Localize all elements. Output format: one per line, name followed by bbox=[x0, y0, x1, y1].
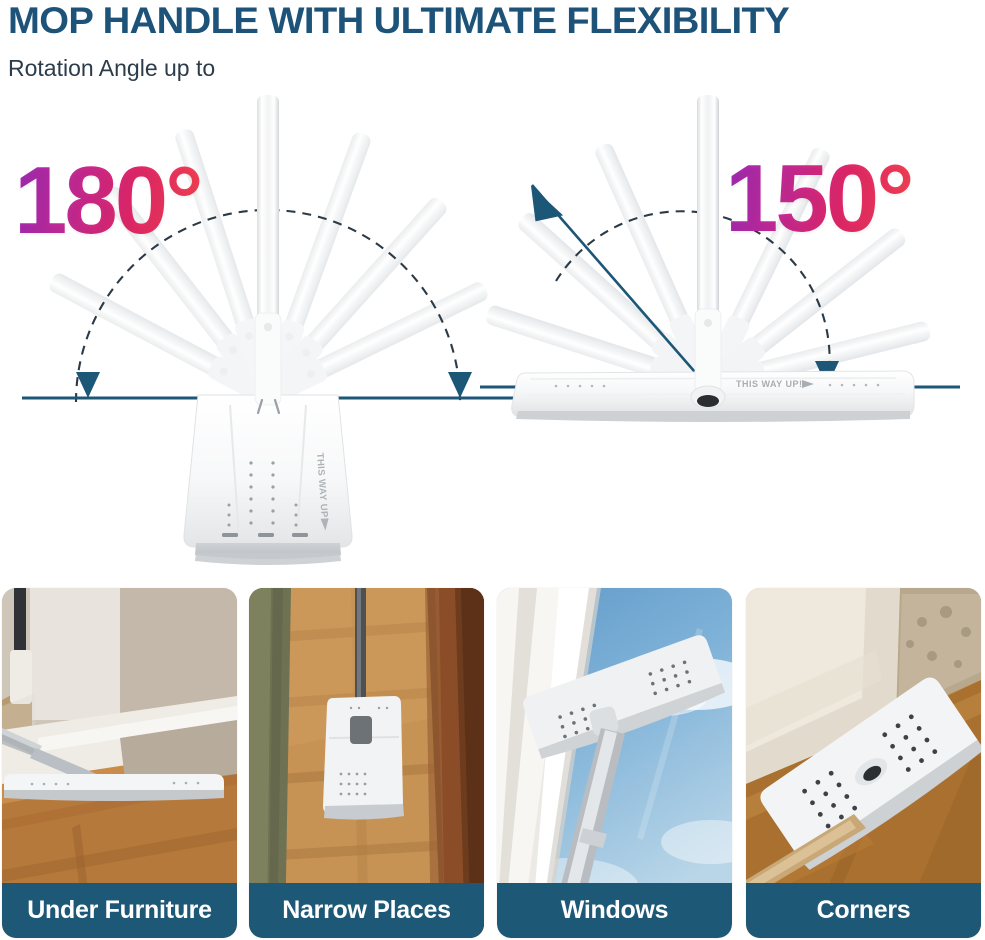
card-caption-label: Narrow Places bbox=[282, 898, 450, 923]
page-title: MOP HANDLE WITH ULTIMATE FLEXIBILITY bbox=[8, 0, 789, 43]
use-case-card-windows[interactable]: Windows bbox=[497, 588, 732, 938]
use-case-card-corners[interactable]: Corners bbox=[746, 588, 981, 938]
card-caption-label: Windows bbox=[561, 898, 668, 923]
handle-active-150 bbox=[691, 95, 725, 408]
arrowhead-left-icon bbox=[76, 372, 100, 398]
page-subtitle: Rotation Angle up to bbox=[8, 55, 215, 83]
mop-head-180: THIS WAY UP! bbox=[184, 395, 352, 565]
card-caption-label: Under Furniture bbox=[27, 898, 211, 923]
use-case-card-narrow-places[interactable]: Narrow Places bbox=[249, 588, 484, 938]
arrowhead-right-icon bbox=[448, 372, 472, 398]
use-case-card-under-furniture[interactable]: Under Furniture bbox=[2, 588, 237, 938]
use-case-cards: Under Furniture bbox=[0, 588, 985, 940]
diagram-180-degrees: THIS WAY UP! 180° bbox=[0, 95, 530, 580]
card-caption-label: Corners bbox=[817, 898, 911, 923]
angle-diagrams: THIS WAY UP! 180° bbox=[0, 95, 985, 580]
card-caption-windows: Windows bbox=[497, 883, 732, 938]
card-caption-corners: Corners bbox=[746, 883, 981, 938]
angle-label-180: 180° bbox=[14, 153, 201, 249]
svg-text:THIS WAY UP!: THIS WAY UP! bbox=[736, 379, 803, 389]
diagram-150-degrees: THIS WAY UP! 150° bbox=[470, 95, 985, 580]
angle-label-150: 150° bbox=[725, 151, 912, 247]
mop-head-150-label: THIS WAY UP! bbox=[736, 379, 814, 389]
handle-active-180 bbox=[255, 95, 281, 413]
card-caption-under-furniture: Under Furniture bbox=[2, 883, 237, 938]
card-caption-narrow-places: Narrow Places bbox=[249, 883, 484, 938]
